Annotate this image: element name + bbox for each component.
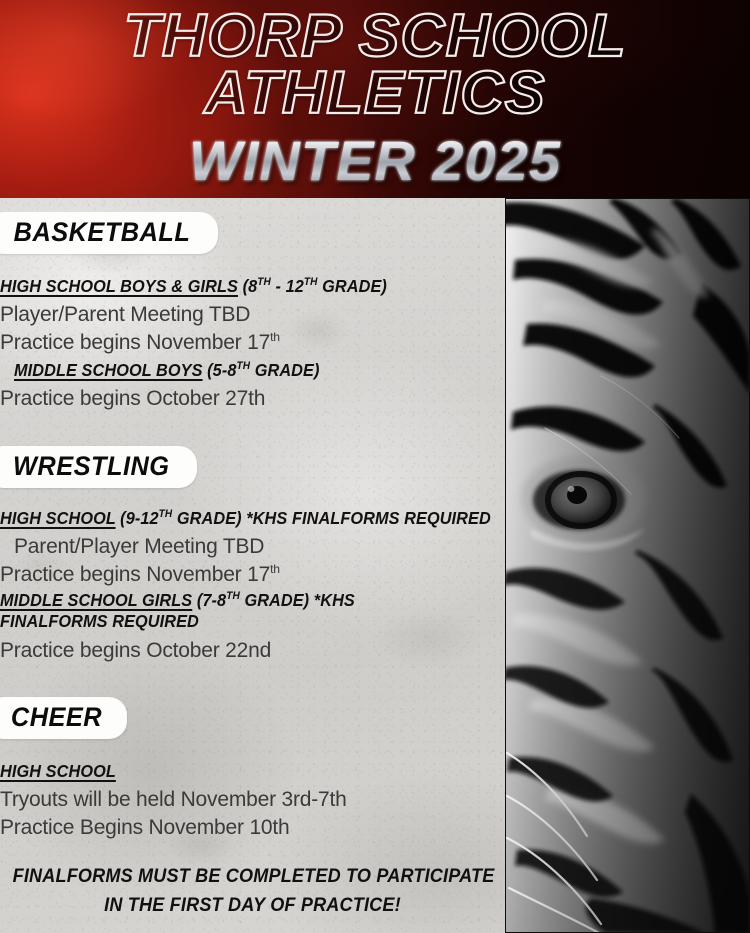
group-heading-sup-a: TH	[257, 276, 271, 288]
poster-title-line-2: ATHLETICS	[0, 63, 750, 123]
group-heading: MIDDLE SCHOOL GIRLS (7-8TH GRADE) *KHS F…	[0, 590, 456, 633]
group-heading-rest-a: (5-8	[203, 360, 237, 380]
group-heading-rest-a: (8	[238, 276, 257, 296]
group-heading-underlined: MIDDLE SCHOOL GIRLS	[0, 590, 192, 610]
section-badge-basketball: BASKETBALL	[0, 212, 218, 254]
group-body-line: Tryouts will be held November 3rd-7th	[0, 786, 505, 813]
group-hs-cheer: HIGH SCHOOL Tryouts will be held Novembe…	[0, 761, 505, 841]
group-body-line: Practice begins November 17th	[0, 561, 505, 588]
group-body-line-text: Practice begins November 17	[0, 331, 270, 354]
group-body-line: Practice begins October 27th	[0, 385, 505, 412]
group-body-line: Practice begins October 22nd	[0, 637, 505, 664]
group-heading: MIDDLE SCHOOL BOYS (5-8TH GRADE)	[14, 360, 471, 381]
footer-line-1: FINALFORMS MUST BE COMPLETED TO PARTICIP…	[13, 862, 493, 891]
section-basketball: BASKETBALL HIGH SCHOOL BOYS & GIRLS (8TH…	[0, 212, 505, 413]
section-badge-label: BASKETBALL	[14, 219, 191, 246]
group-heading-underlined: HIGH SCHOOL BOYS & GIRLS	[0, 276, 238, 296]
group-heading: HIGH SCHOOL (9-12TH GRADE) *KHS FINALFOR…	[0, 508, 470, 529]
group-hs-wrestling: HIGH SCHOOL (9-12TH GRADE) *KHS FINALFOR…	[0, 508, 505, 588]
tiger-illustration	[505, 198, 750, 933]
group-heading-rest-c: GRADE)	[318, 276, 387, 296]
group-heading-underlined: HIGH SCHOOL	[0, 761, 116, 781]
group-body-line: Player/Parent Meeting TBD	[0, 301, 505, 328]
group-heading-rest-c: GRADE)	[250, 360, 319, 380]
group-heading-sup-a: TH	[159, 508, 173, 520]
group-ms-wrestling: MIDDLE SCHOOL GIRLS (7-8TH GRADE) *KHS F…	[0, 590, 505, 664]
section-badge-label: WRESTLING	[13, 453, 170, 480]
athletics-poster: THORP SCHOOL ATHLETICS WINTER 2025 BASKE…	[0, 0, 750, 933]
group-hs-basketball: HIGH SCHOOL BOYS & GIRLS (8TH - 12TH GRA…	[0, 276, 505, 356]
content-panel: BASKETBALL HIGH SCHOOL BOYS & GIRLS (8TH…	[0, 198, 505, 933]
group-heading-rest-a: (7-8	[192, 590, 226, 610]
group-body-line: Practice begins November 17th	[0, 329, 505, 356]
group-body-line-sup: th	[270, 562, 280, 576]
group-heading-rest-a: (9-12	[116, 508, 159, 528]
section-badge-label: CHEER	[11, 704, 102, 731]
poster-title-line-1: THORP SCHOOL	[0, 6, 750, 66]
title-stack: THORP SCHOOL ATHLETICS WINTER 2025	[0, 0, 750, 198]
section-wrestling: WRESTLING HIGH SCHOOL (9-12TH GRADE) *KH…	[0, 446, 505, 664]
section-cheer: CHEER HIGH SCHOOL Tryouts will be held N…	[0, 697, 505, 841]
footer-line-2: IN THE FIRST DAY OF PRACTICE!	[13, 891, 493, 920]
group-heading-sup-a: TH	[226, 590, 240, 602]
group-heading-sup-a: TH	[236, 360, 250, 372]
group-body-line: Parent/Player Meeting TBD	[14, 533, 505, 560]
group-body-line: Practice Begins November 10th	[0, 814, 505, 841]
group-heading: HIGH SCHOOL	[0, 761, 470, 782]
group-body-line-sup: th	[270, 330, 280, 344]
poster-header: THORP SCHOOL ATHLETICS WINTER 2025	[0, 0, 750, 198]
footer-note: FINALFORMS MUST BE COMPLETED TO PARTICIP…	[0, 862, 505, 921]
group-heading-rest-c: GRADE) *KHS FINALFORMS REQUIRED	[172, 508, 491, 528]
tiger-photo	[505, 198, 750, 933]
section-badge-wrestling: WRESTLING	[0, 446, 197, 488]
group-heading-sup-b: TH	[304, 276, 318, 288]
group-heading-underlined: HIGH SCHOOL	[0, 508, 116, 528]
section-badge-cheer: CHEER	[0, 697, 127, 739]
group-ms-basketball: MIDDLE SCHOOL BOYS (5-8TH GRADE) Practic…	[14, 360, 505, 413]
group-heading-underlined: MIDDLE SCHOOL BOYS	[14, 360, 203, 380]
group-heading-rest-b: - 12	[271, 276, 304, 296]
group-heading: HIGH SCHOOL BOYS & GIRLS (8TH - 12TH GRA…	[0, 276, 470, 297]
group-body-line-text: Practice begins November 17	[0, 563, 270, 586]
poster-season-title: WINTER 2025	[0, 133, 750, 189]
